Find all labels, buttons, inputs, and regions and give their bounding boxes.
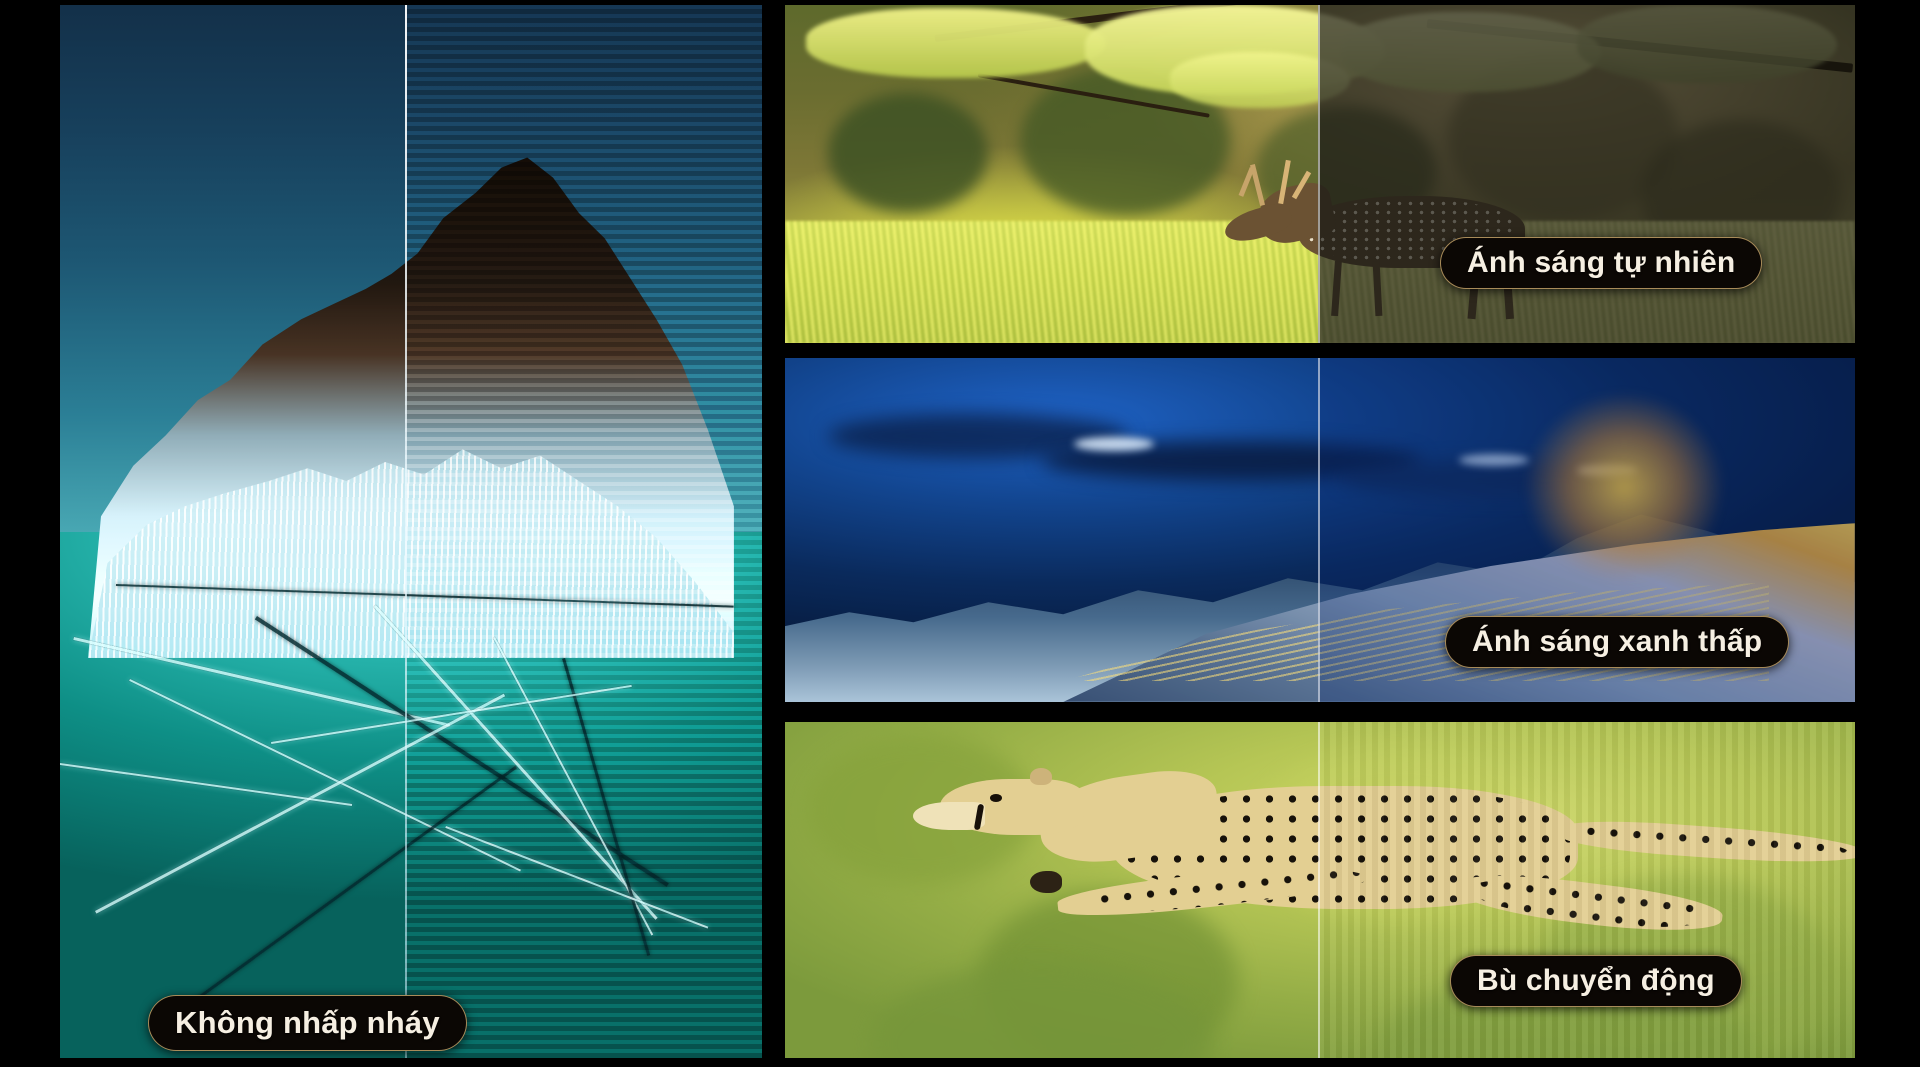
cloud-highlight <box>1074 437 1154 451</box>
screenshot-root: Không nhấp nháy <box>0 0 1920 1067</box>
foliage-blob <box>828 93 988 213</box>
cheetah-paw <box>1030 871 1062 893</box>
caption-low-blue-light[interactable]: Ánh sáng xanh thấp <box>1445 616 1789 668</box>
deer-leg <box>1373 261 1383 316</box>
caption-label: Bù chuyển động <box>1477 964 1715 998</box>
motion-compensation-panel[interactable]: Bù chuyển động <box>785 722 1855 1058</box>
cheetah-eye <box>990 794 1002 802</box>
leaf-cluster <box>1170 52 1350 108</box>
caption-flicker-free[interactable]: Không nhấp nháy <box>148 995 467 1051</box>
leaf-cluster <box>806 8 1106 78</box>
caption-natural-light[interactable]: Ánh sáng tự nhiên <box>1440 237 1762 289</box>
flicker-free-panel[interactable]: Không nhấp nháy <box>60 5 762 1058</box>
caption-label: Không nhấp nháy <box>175 1005 440 1041</box>
caption-motion-compensation[interactable]: Bù chuyển động <box>1450 955 1742 1007</box>
low-blue-light-panel[interactable]: Ánh sáng xanh thấp <box>785 358 1855 702</box>
iceberg-scene <box>60 5 762 1058</box>
cheetah-scene <box>785 722 1855 1058</box>
caption-label: Ánh sáng xanh thấp <box>1472 625 1762 659</box>
natural-light-panel[interactable]: Ánh sáng tự nhiên <box>785 5 1855 343</box>
leaf-cluster <box>1577 5 1837 83</box>
forest-deer-scene <box>785 5 1855 343</box>
cheetah-spots-hindleg <box>1469 872 1705 936</box>
deer-antler <box>1239 167 1255 197</box>
caption-label: Ánh sáng tự nhiên <box>1467 246 1735 280</box>
leaf-cluster <box>1341 12 1601 92</box>
deer-leg <box>1331 261 1342 317</box>
cheetah-ear <box>1030 768 1052 785</box>
